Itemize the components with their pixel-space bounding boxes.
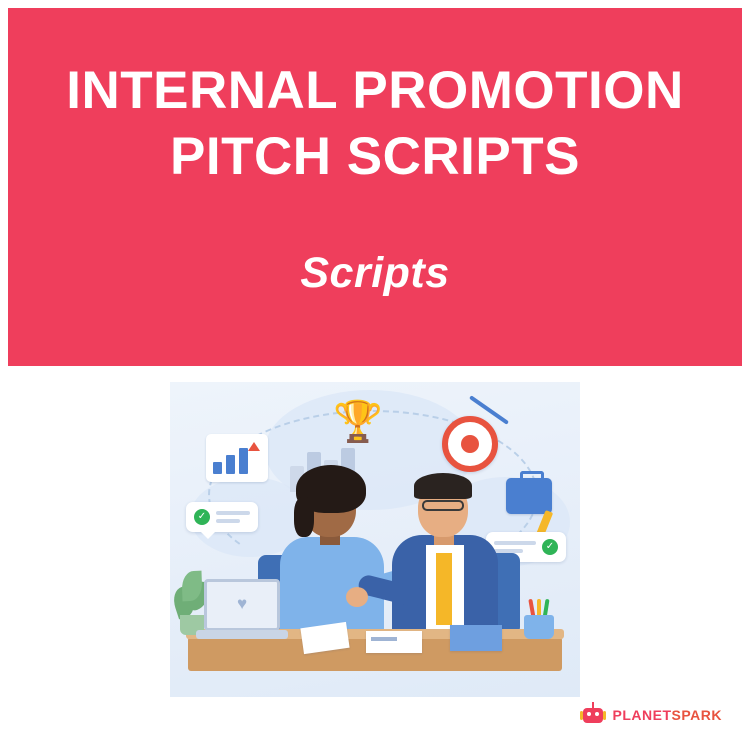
paper-sheet [366, 631, 422, 653]
banner: INTERNAL PROMOTION PITCH SCRIPTS Scripts [8, 8, 742, 366]
glasses-icon [422, 500, 464, 511]
business-meeting-illustration: 🏆 ✓ ✓ [170, 382, 580, 697]
check-icon: ✓ [194, 509, 210, 525]
woman-hair-side [294, 497, 314, 537]
notebook [450, 625, 502, 651]
man-hair [414, 473, 472, 499]
page-title: INTERNAL PROMOTION PITCH SCRIPTS [25, 58, 725, 191]
pen-cup-icon [524, 605, 554, 639]
banner-subtitle: Scripts [300, 249, 449, 298]
laptop-icon [196, 577, 288, 639]
man-figure [360, 461, 520, 641]
robot-logo-icon [580, 702, 606, 728]
trophy-icon: 🏆 [333, 402, 383, 442]
up-arrow-icon [248, 442, 260, 451]
brand-word-planet: PLANET [613, 707, 672, 723]
illustration-area: 🏆 ✓ ✓ [8, 366, 742, 742]
chat-bubble-check-left: ✓ [186, 502, 258, 532]
poster-card: INTERNAL PROMOTION PITCH SCRIPTS Scripts… [0, 0, 750, 750]
brand-word-spark: SPARK [672, 707, 722, 723]
man-tie [436, 553, 452, 625]
check-icon: ✓ [542, 539, 558, 555]
bubble-text-lines [216, 511, 250, 523]
brand-logo: PLANETSPARK [580, 702, 722, 728]
man-hand [346, 587, 368, 607]
brand-wordmark: PLANETSPARK [613, 708, 722, 722]
